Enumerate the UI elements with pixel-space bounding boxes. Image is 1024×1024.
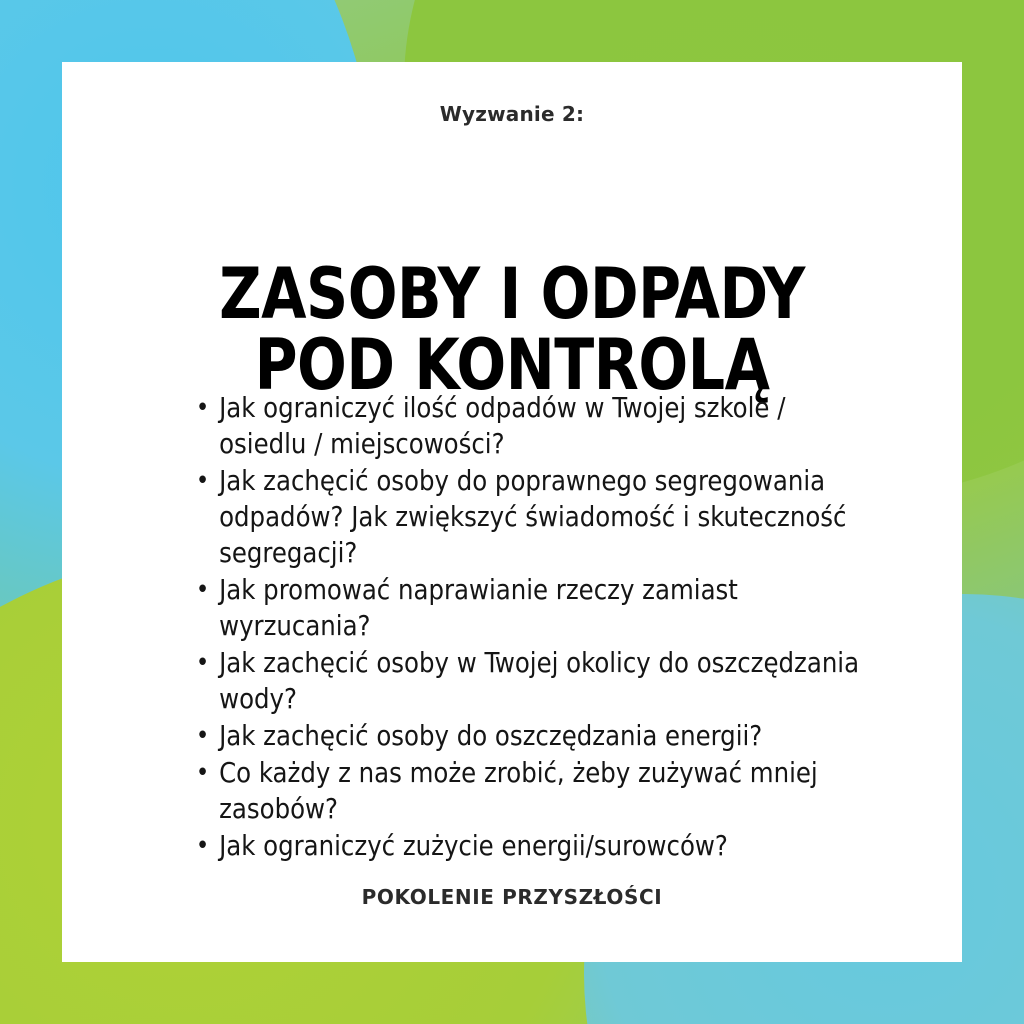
page-title: ZASOBY I ODPADY POD KONTROLĄ xyxy=(94,259,931,402)
list-item: Jak ograniczyć zużycie energii/surowców? xyxy=(190,828,859,864)
list-item: Jak zachęcić osoby do oszczędzania energ… xyxy=(190,718,859,754)
question-list: Jak ograniczyć ilość odpadów w Twojej sz… xyxy=(190,390,880,865)
list-item: Jak ograniczyć ilość odpadów w Twojej sz… xyxy=(190,390,859,462)
list-item: Jak promować naprawianie rzeczy zamiast … xyxy=(190,572,859,644)
slide-canvas: Wyzwanie 2: ZASOBY I ODPADY POD KONTROLĄ… xyxy=(0,0,1024,1024)
content-card: Wyzwanie 2: ZASOBY I ODPADY POD KONTROLĄ… xyxy=(62,62,962,962)
list-item: Co każdy z nas może zrobić, żeby zużywać… xyxy=(190,755,859,827)
list-item: Jak zachęcić osoby w Twojej okolicy do o… xyxy=(190,645,859,717)
challenge-eyebrow: Wyzwanie 2: xyxy=(62,102,962,126)
organization-footer: POKOLENIE PRZYSZŁOŚCI xyxy=(62,885,962,909)
list-item: Jak zachęcić osoby do poprawnego segrego… xyxy=(190,463,859,571)
